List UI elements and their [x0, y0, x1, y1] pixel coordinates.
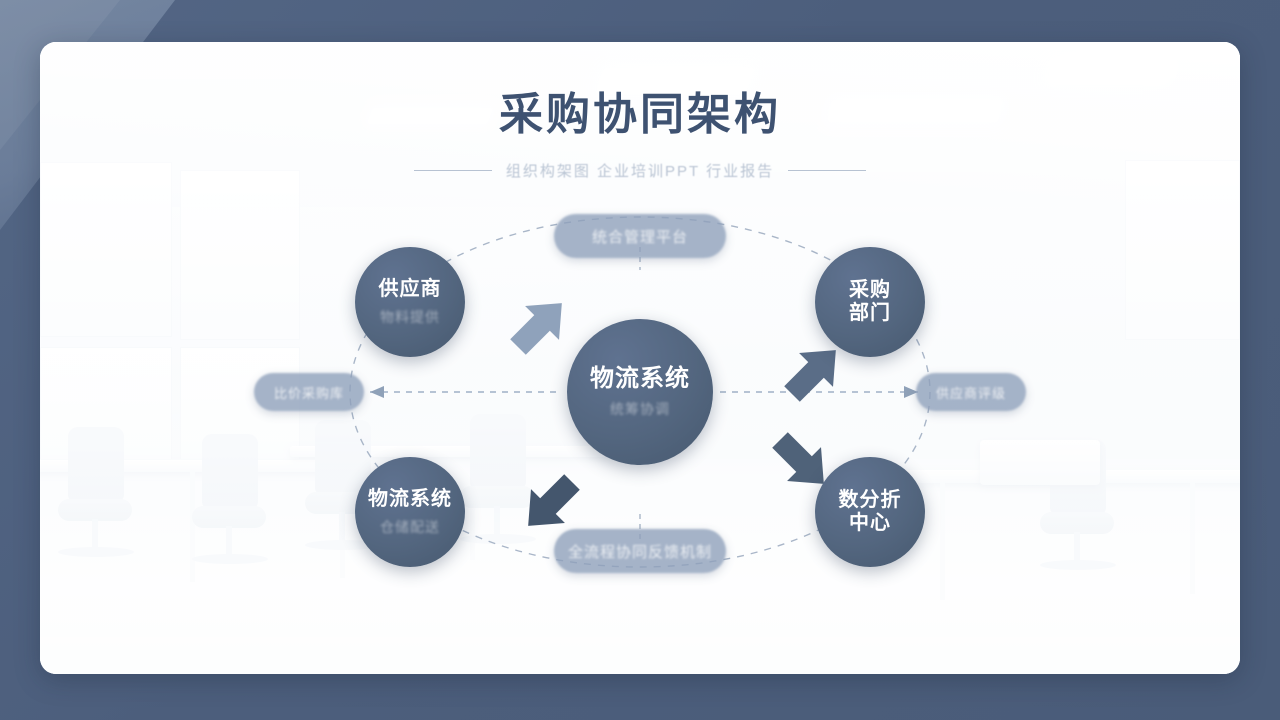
procurement-diagram: 物流系统 统筹协调 供应商 物料提供 采购 部门 物流系统 仓储配送 数分折 中 — [40, 42, 1240, 674]
node-sublabel: 统筹协调 — [610, 399, 670, 419]
node-analysis-center[interactable]: 数分折 中心 — [815, 457, 925, 567]
pill-left-pricing[interactable]: 比价采购库 — [254, 373, 364, 411]
node-label-line1: 采购 — [849, 279, 891, 302]
pill-bottom-feedback[interactable]: 全流程协同反馈机制 — [554, 529, 726, 573]
node-center-logistics[interactable]: 物流系统 统筹协调 — [567, 319, 713, 465]
pill-right-rating[interactable]: 供应商评级 — [916, 373, 1026, 411]
node-label-line2: 中心 — [849, 512, 891, 535]
axis-arrowhead-left — [370, 386, 384, 398]
node-supplier[interactable]: 供应商 物料提供 — [355, 247, 465, 357]
pill-top-platform[interactable]: 统合管理平台 — [554, 214, 726, 258]
node-label: 供应商 — [379, 278, 442, 301]
node-label: 物流系统 — [368, 488, 452, 511]
node-purchase-department[interactable]: 采购 部门 — [815, 247, 925, 357]
node-label: 物流系统 — [590, 365, 690, 393]
node-label-line2: 部门 — [849, 302, 891, 325]
node-sublabel: 物料提供 — [380, 307, 440, 327]
slide-content-card: 采购协同架构 组织构架图 企业培训PPT 行业报告 — [40, 42, 1240, 674]
arrow-to-supplier — [501, 286, 579, 364]
node-label-line1: 数分折 — [839, 489, 902, 512]
node-sublabel: 仓储配送 — [380, 517, 440, 537]
node-logistics-system[interactable]: 物流系统 仓储配送 — [355, 457, 465, 567]
slide-canvas: 采购协同架构 组织构架图 企业培训PPT 行业报告 — [0, 0, 1280, 720]
